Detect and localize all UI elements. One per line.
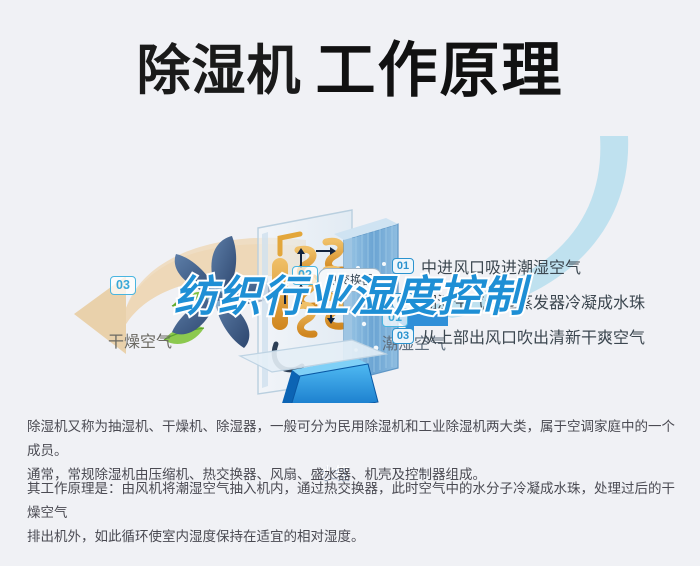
title-part-2: 工作原理 <box>316 37 564 104</box>
description-paragraph-2: 其工作原理是：由风机将潮湿空气抽入机内，通过热交换器，此时空气中的水分子冷凝成水… <box>27 477 677 549</box>
page-title: 除湿机工作原理 <box>0 22 700 109</box>
watermark-text: 纺织行业湿度控制 <box>0 262 700 324</box>
infographic-page: 除湿机工作原理 <box>0 0 700 566</box>
legend-text-03: 从上部出风口吹出清新干爽空气 <box>421 324 645 348</box>
dry-air-label: 干燥空气 <box>108 328 172 352</box>
description-p1-line1: 除湿机又称为抽湿机、干燥机、除湿器，一般可分为民用除湿机和工业除湿机两大类，属于… <box>27 415 677 463</box>
legend-number-03: 03 <box>392 328 414 344</box>
title-part-1: 除湿机 <box>137 41 302 101</box>
description-p2-line1: 其工作原理是：由风机将潮湿空气抽入机内，通过热交换器，此时空气中的水分子冷凝成水… <box>27 477 677 525</box>
description-p2-line2: 排出机外，如此循环使室内湿度保持在适宜的相对湿度。 <box>27 525 677 549</box>
